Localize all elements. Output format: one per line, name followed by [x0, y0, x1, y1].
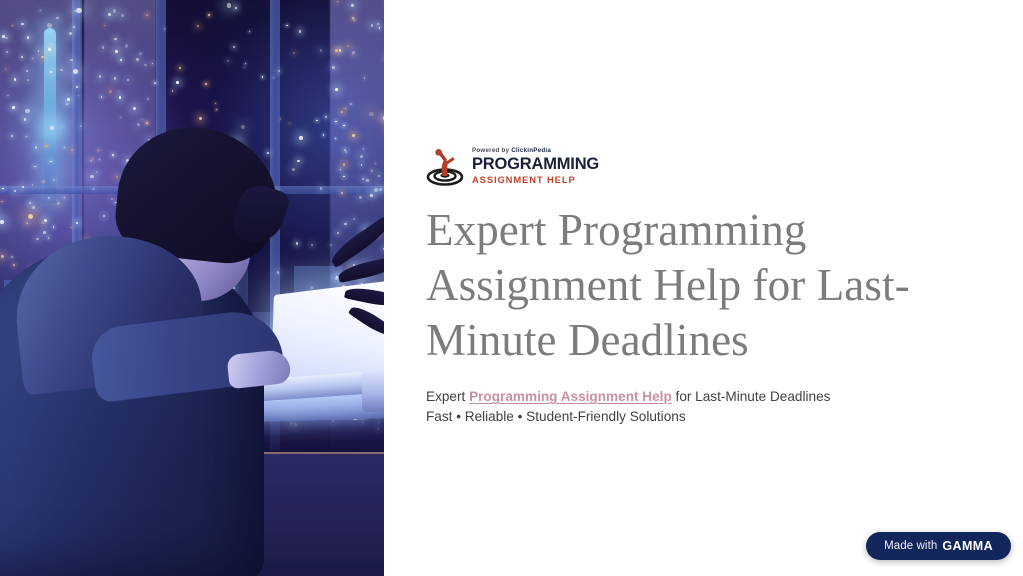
body-line1-after: for Last-Minute Deadlines — [672, 389, 831, 404]
page-title: Expert Programming Assignment Help for L… — [426, 203, 954, 368]
logo-sub-text: ASSIGNMENT HELP — [472, 175, 599, 184]
logo-powered-prefix: Powered by — [472, 147, 509, 154]
body-line1-before: Expert — [426, 389, 469, 404]
subheading-block: Expert Programming Assignment Help for L… — [426, 387, 946, 427]
badge-made-with-label: Made with — [884, 540, 937, 552]
coffee-mug — [362, 370, 384, 412]
programming-assignment-help-link[interactable]: Programming Assignment Help — [469, 389, 672, 404]
logo-wordmark: Powered by ClickinPedia PROGRAMMING ASSI… — [472, 148, 599, 184]
made-with-gamma-badge[interactable]: Made with GAMMA — [866, 532, 1011, 560]
logo-powered-by: Powered by ClickinPedia — [472, 148, 599, 154]
badge-gamma-wordmark: GAMMA — [942, 539, 993, 553]
slide-canvas: Powered by ClickinPedia PROGRAMMING ASSI… — [0, 0, 1023, 576]
logo-main-text: PROGRAMMING — [472, 156, 599, 173]
person-raising-arm-rings-mark-icon — [426, 146, 466, 186]
programming-assignment-help-logo: Powered by ClickinPedia PROGRAMMING ASSI… — [426, 146, 599, 186]
logo-powered-brand: ClickinPedia — [511, 147, 551, 154]
body-line2: Fast • Reliable • Student-Friendly Solut… — [426, 407, 946, 427]
hero-illustration — [0, 0, 384, 576]
content-panel: Powered by ClickinPedia PROGRAMMING ASSI… — [384, 0, 1023, 576]
